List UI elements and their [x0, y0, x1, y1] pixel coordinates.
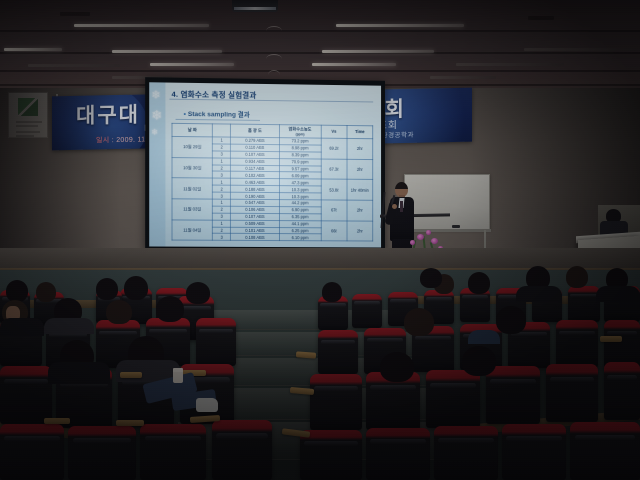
seat[interactable] — [426, 370, 480, 428]
presenter-tie — [400, 201, 403, 212]
seat[interactable] — [0, 366, 52, 424]
seat[interactable] — [556, 320, 598, 368]
seat[interactable] — [366, 428, 430, 480]
table-body: 10월 29일10.279 ABS73.2 ppm69.2ℓ2hr20.110 … — [172, 136, 373, 241]
bullet-marker-icon: • — [184, 110, 186, 117]
audience-shoulders — [48, 362, 110, 384]
presentation-slide: ❄ ❄ ❄ 4. 염화수소 측정 실험결과 •Stack sampling 결과… — [149, 82, 381, 247]
header-vs: Vs — [321, 125, 347, 138]
seat-armrest — [116, 420, 144, 426]
cell-date: 10월 30일 — [172, 157, 213, 178]
audience-head — [36, 282, 56, 302]
cell-date: 11월 04일 — [172, 220, 213, 241]
audience-head — [124, 276, 148, 300]
ceiling-projector-icon — [232, 0, 278, 12]
seat[interactable] — [570, 422, 640, 480]
header-date: 날 짜 — [172, 123, 213, 137]
seat[interactable] — [0, 424, 64, 480]
audience-shoulders — [596, 286, 640, 302]
seat[interactable] — [434, 426, 498, 480]
slide-bullet-text: Stack sampling 결과 — [188, 110, 250, 118]
cell-vs: 67.3ℓ — [321, 159, 347, 180]
coffee-cup — [173, 368, 183, 383]
header-concentration-label: 염화수소농도 — [288, 127, 311, 132]
seat-armrest — [600, 336, 622, 342]
snowflake-icon: ❄ — [151, 108, 162, 121]
cell-vs: 67ℓ — [321, 200, 347, 221]
cell-sample-no: 3 — [213, 234, 231, 241]
seat[interactable] — [546, 364, 598, 422]
audience-head — [380, 352, 414, 382]
slide-results-table: 날 짜 흡 광 도 염화수소농도 (ppm) Vs Time 10월 29일10… — [172, 123, 374, 242]
audience-head — [186, 282, 210, 304]
snowflake-icon: ❄ — [151, 90, 160, 101]
audience-head — [496, 306, 526, 334]
seat[interactable] — [212, 420, 272, 480]
seat[interactable] — [310, 374, 362, 430]
audience-shoulders — [468, 330, 500, 344]
header-concentration-unit: (ppm) — [279, 132, 320, 136]
seat-armrest — [120, 372, 142, 378]
orchid-flower-icon — [417, 234, 424, 240]
cell-absorbance: 0.108 ABS — [231, 234, 279, 241]
cell-vs: 53.8ℓ — [321, 179, 347, 200]
seat[interactable] — [196, 318, 236, 366]
cell-time: 2hr — [347, 200, 373, 221]
projection-screen: ❄ ❄ ❄ 4. 염화수소 측정 실험결과 •Stack sampling 결과… — [145, 77, 385, 251]
audience-head — [468, 272, 490, 294]
seat[interactable] — [318, 330, 358, 374]
audience-head — [6, 280, 28, 302]
snowflake-icon: ❄ — [151, 129, 158, 137]
header-concentration: 염화수소농도 (ppm) — [279, 125, 321, 138]
wall-shadow-left — [0, 88, 120, 270]
seat[interactable] — [140, 424, 206, 480]
audience-head — [156, 296, 184, 322]
ceiling — [0, 0, 640, 92]
cell-date: 10월 29일 — [172, 136, 213, 157]
seat[interactable] — [502, 424, 566, 480]
seat[interactable] — [486, 366, 540, 424]
cell-time: 2hr — [347, 159, 373, 180]
audience-head — [462, 346, 496, 376]
orchid-flower-icon — [431, 238, 438, 244]
cell-date: 11월 03일 — [172, 199, 213, 220]
cell-time: 1hr 40min — [347, 180, 373, 201]
seat[interactable] — [604, 320, 640, 368]
presenter-hand — [392, 204, 397, 209]
audience-head — [322, 282, 342, 302]
auditorium-photo: 대구대 대구 발표회 발표회 대구대학교 환경공학과 일시 : 2009. 11… — [0, 0, 640, 480]
seat[interactable] — [300, 430, 362, 480]
cell-vs: 69.2ℓ — [321, 138, 347, 159]
cell-date: 11월 02일 — [172, 178, 213, 199]
audience-shoulders — [0, 318, 44, 336]
cell-time: 2hr — [347, 138, 373, 159]
whiteboard-marker-icon — [452, 225, 460, 228]
slide-bullet: •Stack sampling 결과 — [176, 106, 260, 121]
seat[interactable] — [68, 426, 136, 480]
seat[interactable] — [604, 362, 640, 420]
orchid-flower-icon — [426, 230, 431, 235]
audience-head — [420, 268, 442, 288]
audience-head — [404, 308, 434, 336]
audience-shoe — [196, 398, 218, 412]
cell-concentration: 6.10 ppm — [279, 234, 321, 241]
seat[interactable] — [352, 294, 382, 328]
audience-head — [106, 300, 132, 324]
audience-shoulders — [44, 318, 94, 334]
slide-title-rule — [169, 99, 373, 103]
orchid-flower-icon — [410, 240, 415, 245]
header-absorbance: 흡 광 도 — [231, 124, 279, 138]
cell-vs: 66ℓ — [321, 221, 347, 242]
seat-armrest — [44, 418, 70, 424]
seat[interactable] — [568, 286, 600, 322]
audience-shoulders — [516, 286, 562, 302]
header-time: Time — [347, 125, 373, 138]
header-no — [213, 124, 231, 137]
audience-head — [96, 278, 118, 300]
cell-time: 2hr — [347, 221, 373, 242]
audience-head — [566, 266, 588, 288]
